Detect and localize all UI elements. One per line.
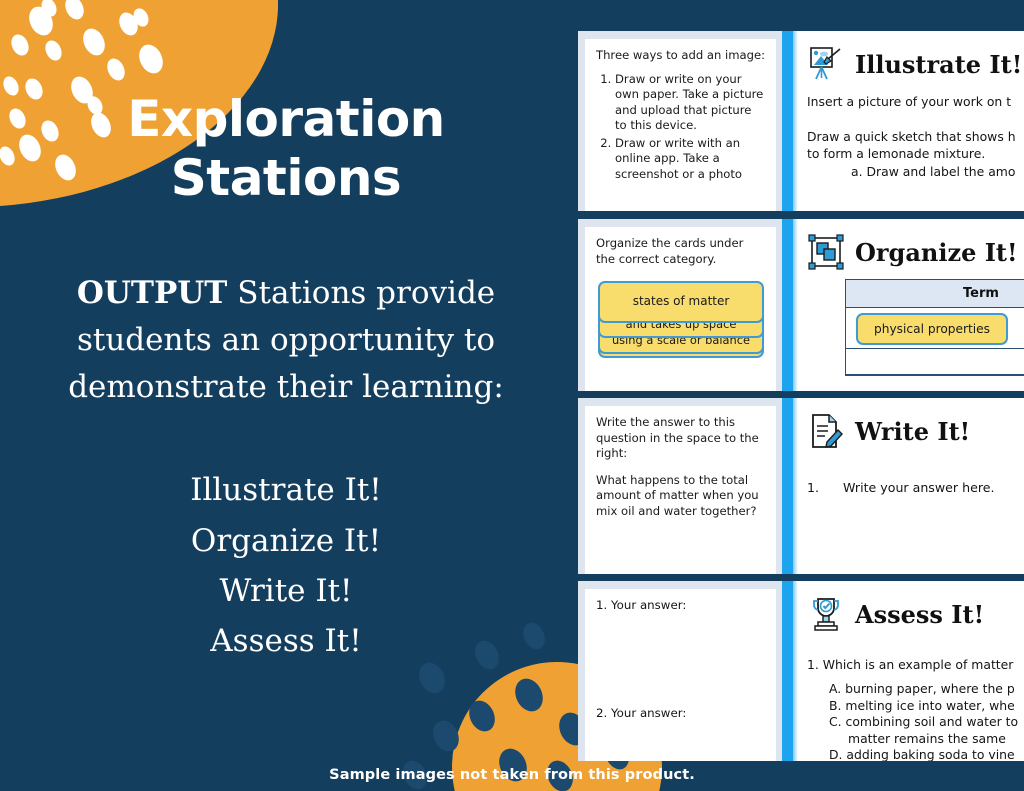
write-left-pane: Write the answer to this question in the… xyxy=(578,398,782,574)
footnote-disclaimer: Sample images not taken from this produc… xyxy=(0,767,1024,783)
station-item-assess: Assess It! xyxy=(190,616,382,666)
assess-left-pane: 1. Your answer: 2. Your answer: xyxy=(578,581,782,761)
illustrate-intro: Three ways to add an image: xyxy=(596,48,766,64)
assess-right-pane: Assess It! 1. Which is an example of mat… xyxy=(782,581,1024,761)
title-line-2: Stations xyxy=(127,149,445,208)
write-answer-row: 1. Write your answer here. xyxy=(807,480,1024,495)
write-title: Write It! xyxy=(855,417,970,446)
assess-option-c[interactable]: C. combining soil and water to xyxy=(829,714,1024,731)
station-item-write: Write It! xyxy=(190,566,382,616)
organize-term-table: Term physical properties xyxy=(845,279,1024,376)
organize-title: Organize It! xyxy=(855,238,1018,267)
list-item: Draw or write with an online app. Take a… xyxy=(615,136,766,183)
illustrate-line-1: Insert a picture of your work on t xyxy=(807,93,1024,111)
sample-card-illustrate-it: Three ways to add an image: Draw or writ… xyxy=(578,31,1024,211)
group-objects-icon xyxy=(807,233,845,271)
write-intro: Write the answer to this question in the… xyxy=(596,415,766,462)
organize-table-yellow-card[interactable]: physical properties xyxy=(856,313,1008,345)
illustrate-header: Illustrate It! xyxy=(807,41,1024,87)
write-instructions-sheet: Write the answer to this question in the… xyxy=(585,406,776,574)
assess-answer-2: 2. Your answer: xyxy=(596,706,766,722)
assess-option-d[interactable]: D. adding baking soda to vine xyxy=(829,747,1024,761)
trophy-check-icon xyxy=(807,595,845,633)
illustrate-left-pane: Three ways to add an image: Draw or writ… xyxy=(578,31,782,211)
lede-strong: OUTPUT xyxy=(77,275,228,311)
document-pencil-icon xyxy=(807,412,845,450)
illustrate-instructions-sheet: Three ways to add an image: Draw or writ… xyxy=(585,39,776,211)
sample-screenshot-stack: Three ways to add an image: Draw or writ… xyxy=(578,0,1024,791)
illustrate-line-2: Draw a quick sketch that shows h xyxy=(807,128,1024,146)
write-question: What happens to the total amount of matt… xyxy=(596,473,766,520)
illustrate-right-pane: Illustrate It! Insert a picture of your … xyxy=(782,31,1024,211)
illustrate-title: Illustrate It! xyxy=(855,50,1022,79)
write-right-pane: Write It! 1. Write your answer here. xyxy=(782,398,1024,574)
organize-card-stack: total amount of matter that can be measu… xyxy=(596,281,766,359)
easel-paintbrush-icon xyxy=(807,45,845,83)
illustrate-sub-a: a. Draw and label the amo xyxy=(851,163,1024,181)
illustrate-steps: Draw or write on your own paper. Take a … xyxy=(596,72,766,183)
write-answer-text[interactable]: Write your answer here. xyxy=(843,480,994,495)
assess-header: Assess It! xyxy=(807,591,1024,637)
station-item-illustrate: Illustrate It! xyxy=(190,465,382,515)
table-row: physical properties xyxy=(846,308,1024,349)
assess-options: A. burning paper, where the p B. melting… xyxy=(829,681,1024,761)
assess-answer-sheet: 1. Your answer: 2. Your answer: xyxy=(585,589,776,761)
organize-instructions-sheet: Organize the cards under the correct cat… xyxy=(585,227,776,391)
list-item: Draw or write on your own paper. Take a … xyxy=(615,72,766,134)
organize-header: Organize It! xyxy=(807,229,1024,275)
assess-option-a[interactable]: A. burning paper, where the p xyxy=(829,681,1024,698)
lede-paragraph: OUTPUT Stations provide students an oppo… xyxy=(26,270,546,411)
organize-table-header-term: Term xyxy=(846,280,1024,308)
lede-rest: Stations provide students an opportunity… xyxy=(68,275,504,405)
illustrate-line-3: to form a lemonade mixture. xyxy=(807,145,1024,163)
assess-title: Assess It! xyxy=(855,600,984,629)
station-item-organize: Organize It! xyxy=(190,516,382,566)
station-list: Illustrate It! Organize It! Write It! As… xyxy=(190,465,382,666)
assess-option-b[interactable]: B. melting ice into water, whe xyxy=(829,698,1024,715)
poster-canvas: Exploration Stations OUTPUT Stations pro… xyxy=(0,0,1024,791)
organize-left-pane: Organize the cards under the correct cat… xyxy=(578,219,782,391)
write-answer-number: 1. xyxy=(807,480,819,495)
organize-right-pane: Organize It! Term physical properties xyxy=(782,219,1024,391)
organize-intro: Organize the cards under the correct cat… xyxy=(596,236,766,267)
table-row xyxy=(846,349,1024,375)
organize-yellow-card-1[interactable]: states of matter xyxy=(598,281,764,323)
sample-card-organize-it: Organize the cards under the correct cat… xyxy=(578,219,1024,391)
assess-option-c-cont: matter remains the same xyxy=(848,731,1024,748)
assess-question: 1. Which is an example of matter xyxy=(807,657,1024,672)
sample-card-assess-it: 1. Your answer: 2. Your answer: xyxy=(578,581,1024,761)
assess-answer-1: 1. Your answer: xyxy=(596,598,766,614)
write-header: Write It! xyxy=(807,408,1024,454)
sample-card-write-it: Write the answer to this question in the… xyxy=(578,398,1024,574)
